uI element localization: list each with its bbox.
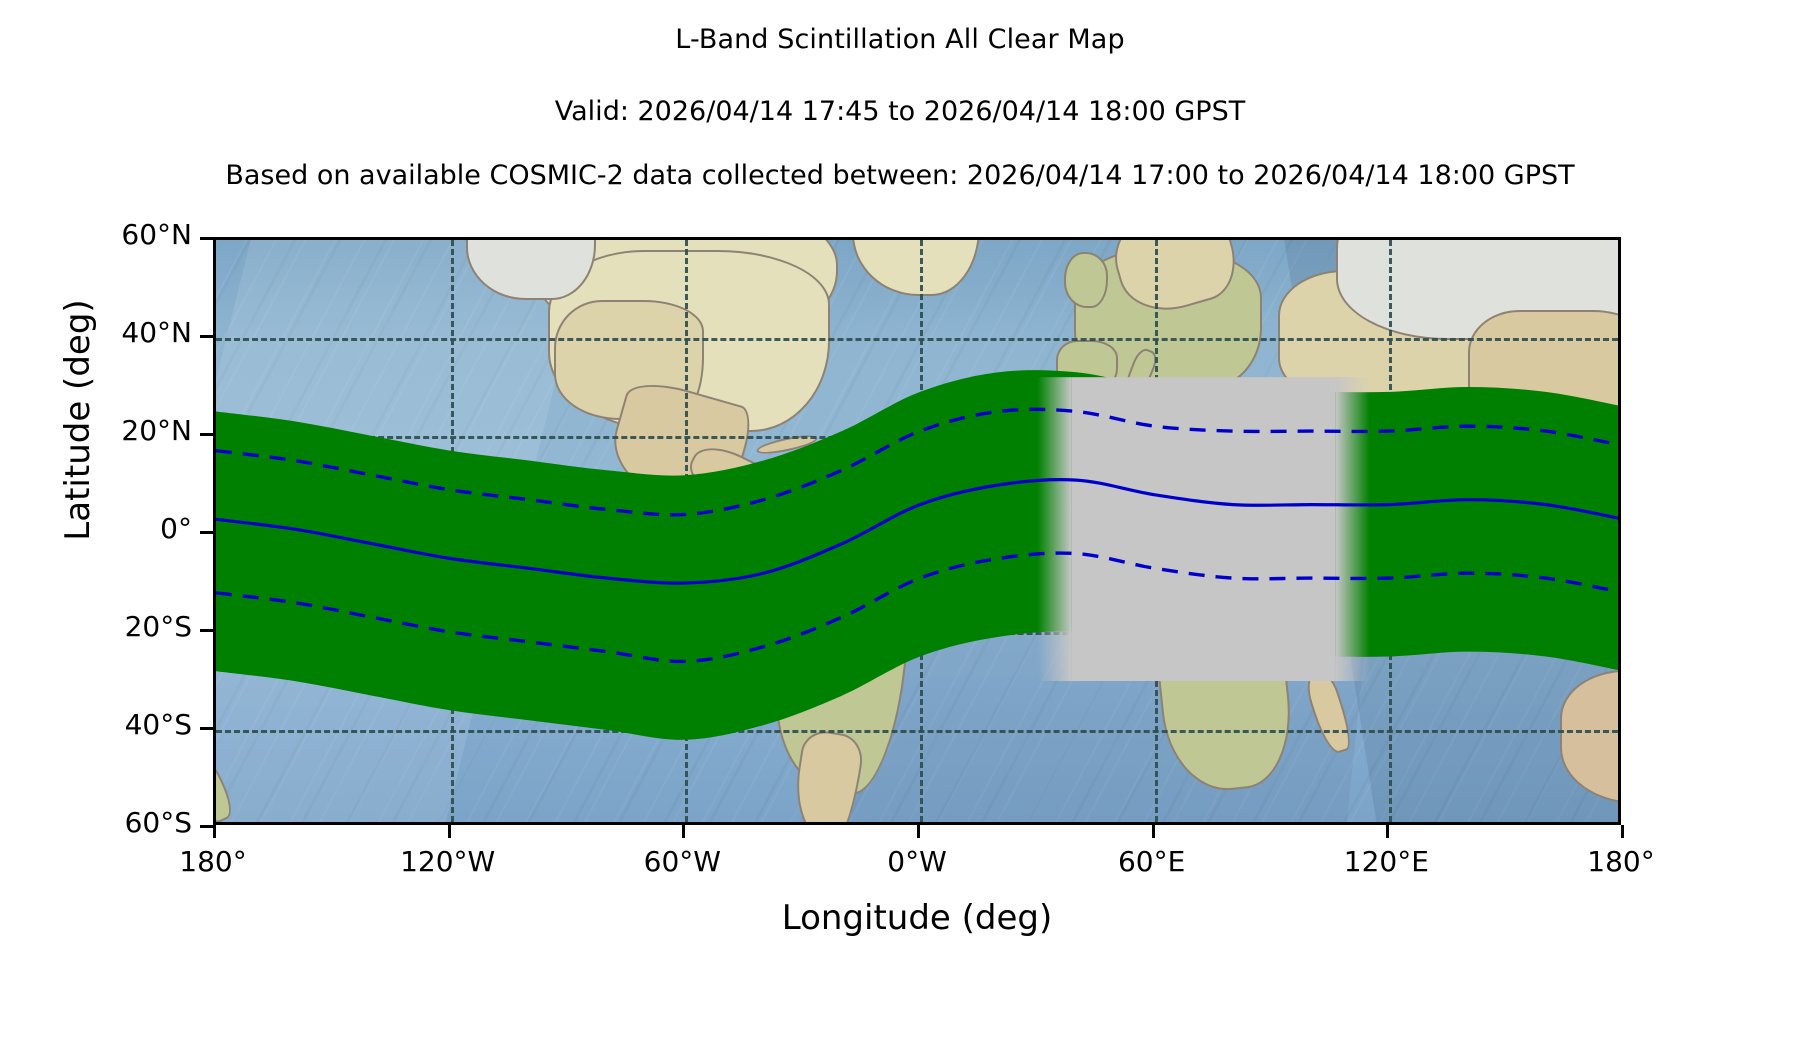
x-tick	[448, 825, 451, 838]
y-tick	[200, 433, 213, 436]
page-title: L-Band Scintillation All Clear Map	[0, 24, 1800, 55]
y-tick-label: 20°S	[125, 610, 192, 643]
no-specification-block	[1037, 377, 1369, 681]
y-tick	[200, 237, 213, 240]
x-tick	[1621, 825, 1624, 838]
y-tick-label: 20°N	[121, 414, 192, 447]
x-tick-label: 120°W	[400, 845, 495, 878]
x-tick	[682, 825, 685, 838]
scintillation-overlay	[216, 240, 1621, 825]
y-tick-label: 40°S	[125, 708, 192, 741]
x-tick	[917, 825, 920, 838]
x-tick-label: 0°W	[887, 845, 947, 878]
x-tick-label: 60°E	[1118, 845, 1185, 878]
x-tick-label: 180°	[179, 845, 246, 878]
x-tick-label: 60°W	[644, 845, 721, 878]
no-specification-rect	[1037, 377, 1071, 681]
valid-period: Valid: 2026/04/14 17:45 to 2026/04/14 18…	[0, 96, 1800, 127]
y-tick-label: 0°	[160, 512, 192, 545]
y-tick	[200, 629, 213, 632]
y-tick	[200, 727, 213, 730]
map-plot-area[interactable]: Map valid for 1500 MHz Probably Clear > …	[213, 237, 1621, 825]
y-tick-label: 40°N	[121, 316, 192, 349]
no-specification-rect	[1071, 377, 1335, 681]
x-axis-label: Longitude (deg)	[213, 898, 1621, 938]
y-tick-label: 60°N	[121, 218, 192, 251]
y-tick	[200, 335, 213, 338]
x-tick-label: 180°	[1587, 845, 1654, 878]
x-tick	[1152, 825, 1155, 838]
x-tick	[1386, 825, 1389, 838]
y-tick-label: 60°S	[125, 806, 192, 839]
y-axis-label: Latitude (deg)	[58, 160, 98, 680]
x-tick	[213, 825, 216, 838]
x-tick-label: 120°E	[1344, 845, 1429, 878]
y-tick	[200, 825, 213, 828]
y-tick	[200, 531, 213, 534]
no-specification-rect	[1336, 377, 1370, 681]
data-source-note: Based on available COSMIC-2 data collect…	[0, 160, 1800, 191]
